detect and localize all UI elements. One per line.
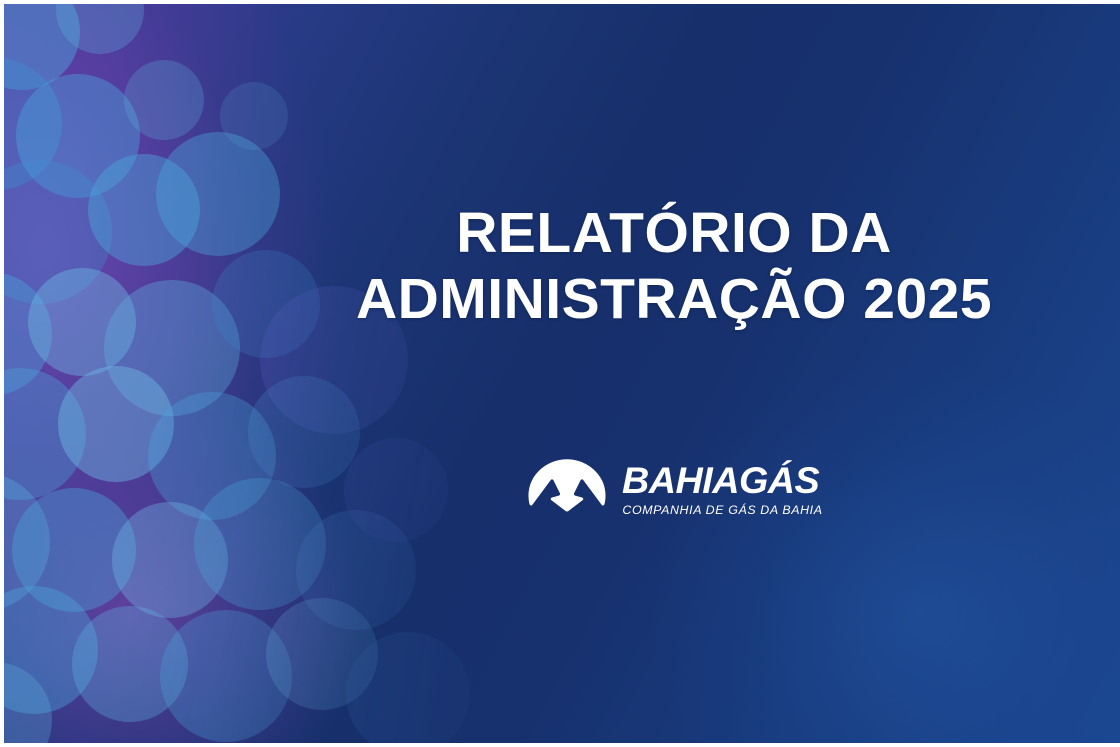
bahiagas-mountain-arch-icon [525,458,609,520]
cover-title-line-1: RELATÓRIO DA [274,200,1074,266]
bahiagas-logo: BAHIAGÁS COMPANHIA DE GÁS DA BAHIA [274,458,1074,520]
bubble-field-decoration [4,4,1120,743]
bubble-26 [346,632,470,743]
bahiagas-logo-text: BAHIAGÁS COMPANHIA DE GÁS DA BAHIA [622,462,822,516]
bubble-4 [124,60,204,140]
bubble-7 [156,132,280,256]
bubble-29 [220,82,288,150]
bahiagas-wordmark: BAHIAGÁS [622,462,819,499]
cover-title: RELATÓRIO DA ADMINISTRAÇÃO 2025 [274,200,1074,332]
report-cover-page: RELATÓRIO DA ADMINISTRAÇÃO 2025 BAHIAGÁS… [0,0,1120,747]
cover-canvas: RELATÓRIO DA ADMINISTRAÇÃO 2025 BAHIAGÁS… [4,4,1120,743]
bahiagas-tagline: COMPANHIA DE GÁS DA BAHIA [622,504,822,516]
cover-title-line-2: ADMINISTRAÇÃO 2025 [274,266,1074,332]
